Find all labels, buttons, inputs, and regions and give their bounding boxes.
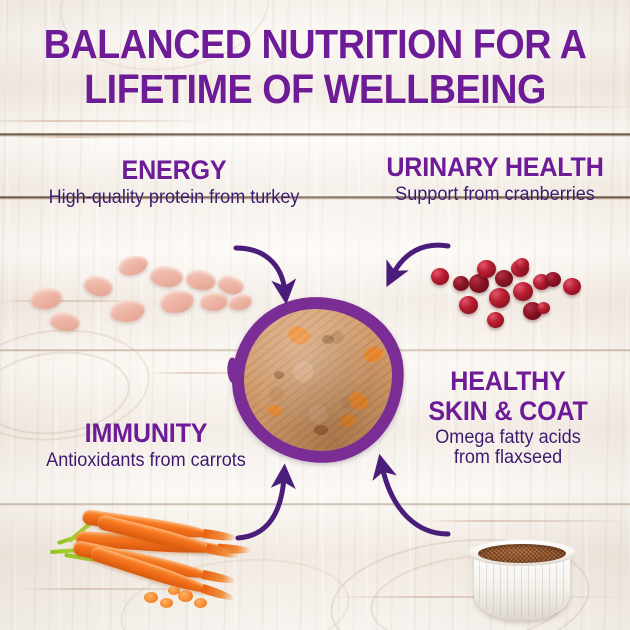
benefit-subtitle-skin-coat-line-2: from flaxseed — [398, 447, 618, 469]
carrot-slice — [168, 586, 180, 595]
benefit-block-skin-coat: HEALTHY SKIN & COAT Omega fatty acids fr… — [392, 366, 624, 469]
flaxseed-ramekin-photo — [466, 528, 578, 622]
cranberry — [515, 258, 529, 271]
cranberry — [537, 302, 550, 314]
cranberry — [545, 272, 561, 287]
turkey-piece — [82, 273, 115, 299]
benefit-subtitle-immunity: Antioxidants from carrots — [9, 450, 283, 472]
headline-line-1: BALANCED NUTRITION FOR A — [44, 21, 587, 67]
turkey-piece — [149, 265, 184, 289]
carrot-slice — [178, 590, 193, 602]
page-title: BALANCED NUTRITION FOR A LIFETIME OF WEL… — [25, 22, 605, 112]
carrot-slice — [144, 592, 158, 603]
carrots-photo — [48, 498, 308, 623]
cranberry — [477, 260, 496, 278]
cranberry — [431, 268, 449, 285]
headline-line-2: LIFETIME OF WELLBEING — [25, 67, 605, 112]
benefit-subtitle-urinary-health: Support from cranberries — [372, 184, 617, 206]
cranberry — [459, 296, 478, 314]
cranberry — [453, 276, 469, 291]
turkey-piece — [109, 298, 146, 324]
turkey-piece — [116, 253, 150, 279]
cranberry — [495, 270, 513, 287]
cranberries-photo — [425, 258, 625, 353]
turkey-piece — [29, 286, 64, 311]
cranberry — [563, 278, 581, 295]
cranberry — [513, 282, 533, 301]
turkey-piece — [158, 287, 195, 316]
ramekin-ribs — [476, 558, 568, 618]
infographic-poster: BALANCED NUTRITION FOR A LIFETIME OF WEL… — [0, 0, 630, 630]
turkey-chunks-photo — [22, 250, 262, 350]
benefit-title-urinary-health: URINARY HEALTH — [375, 152, 615, 182]
turkey-piece — [49, 310, 82, 333]
carrot-slice — [194, 598, 207, 608]
benefit-subtitle-energy: High-quality protein from turkey — [14, 187, 333, 209]
turkey-piece — [184, 267, 217, 292]
benefit-block-urinary-health: URINARY HEALTH Support from cranberries — [366, 152, 624, 206]
benefit-title-energy: ENERGY — [18, 155, 330, 185]
benefit-subtitle-skin-coat-line-1: Omega fatty acids — [398, 427, 618, 449]
cranberry — [489, 288, 510, 308]
flaxseed-fill — [478, 544, 566, 563]
benefit-title-immunity: IMMUNITY — [12, 418, 280, 448]
benefit-block-energy: ENERGY High-quality protein from turkey — [6, 155, 342, 209]
benefit-title-skin-coat-line-2: SKIN & COAT — [400, 396, 616, 426]
carrot-slice — [160, 598, 173, 608]
cranberry — [487, 312, 504, 328]
benefit-block-immunity: IMMUNITY Antioxidants from carrots — [2, 418, 290, 472]
turkey-piece — [199, 291, 228, 312]
benefit-title-skin-coat-line-1: HEALTHY — [400, 366, 616, 396]
